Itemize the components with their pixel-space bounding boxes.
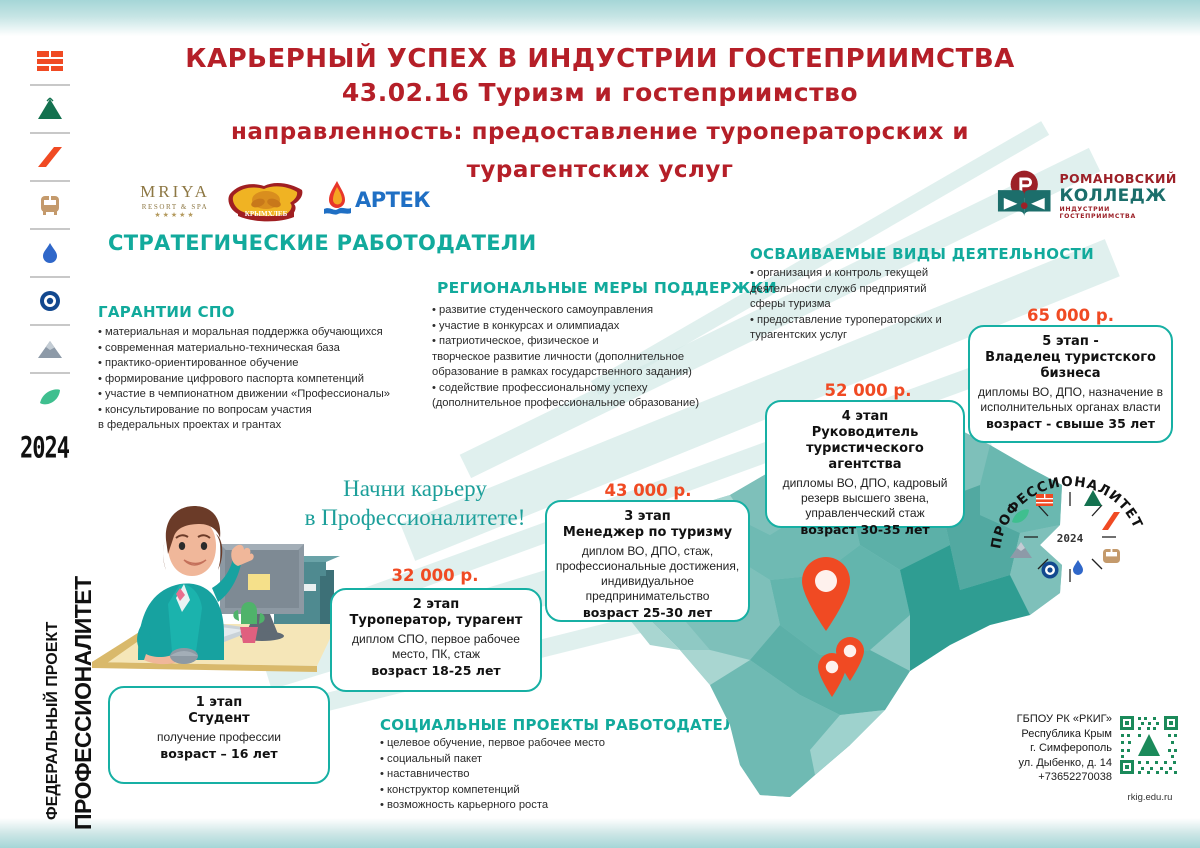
divider [30, 84, 70, 86]
badge-brick-icon [1036, 494, 1053, 506]
stage-salary-4: 52 000 р. [768, 381, 968, 400]
list-item: образование в рамках государственного за… [432, 365, 742, 381]
college-logo-line1: РОМАНОВСКИЙ [1059, 171, 1186, 186]
list-item: • патриотическое, физическое и [432, 334, 742, 350]
badge-year: 2024 [1057, 532, 1084, 545]
page-title-line1: КАРЬЕРНЫЙ УСПЕХ В ИНДУСТРИИ ГОСТЕПРИИМСТ… [180, 44, 1020, 76]
badge-mountain-icon [1010, 542, 1032, 558]
list-item: творческое развитие личности (дополнител… [432, 350, 742, 366]
stage-name: Владелец туристского бизнеса [978, 350, 1163, 382]
contact-street: ул. Дыбенко, д. 14 [1000, 756, 1112, 771]
brick-icon [22, 44, 78, 78]
qr-code[interactable] [1118, 714, 1180, 776]
list-item: • развитие студенческого самоуправления [432, 303, 742, 319]
heading-strategic-employers: СТРАТЕГИЧЕСКИЕ РАБОТОДАТЕЛИ [108, 231, 537, 255]
list-item: турагентских услуг [750, 328, 970, 344]
mriya-logo-sub: RESORT & SPA [140, 203, 210, 211]
partner-logos: MRIYA RESORT & SPA ★★★★★ КРЫМХЛЕБ АРТЕК [140, 172, 430, 228]
mriya-logo-stars: ★★★★★ [140, 211, 210, 219]
top-gradient-band [0, 0, 1200, 36]
droplet-icon [22, 236, 78, 270]
leaf-icon [22, 380, 78, 414]
mriya-logo-name: MRIYA [140, 182, 210, 202]
stage-number: 3 этап [555, 509, 740, 525]
heading-regional-support: РЕГИОНАЛЬНЫЕ МЕРЫ ПОДДЕРЖКИ [437, 279, 777, 297]
mountain-icon [22, 332, 78, 366]
stage-number: 2 этап [340, 597, 532, 613]
professionalitet-badge: ПРОФЕССИОНАЛИТЕТ 2024 [980, 452, 1160, 612]
target-icon [22, 284, 78, 318]
contact-phone: +73652270038 [1000, 770, 1112, 785]
list-item: (дополнительное профессиональное образов… [432, 396, 742, 412]
divider [30, 180, 70, 182]
list-item: • материальная и моральная поддержка обу… [98, 325, 428, 341]
sidebar-icon-strip [22, 44, 78, 414]
heading-activities: ОСВАИВАЕМЫЕ ВИДЫ ДЕЯТЕЛЬНОСТИ [750, 245, 1094, 263]
list-item: • участие в конкурсах и олимпиадах [432, 319, 742, 335]
list-item: в федеральных проектах и грантах [98, 418, 428, 434]
divider [30, 276, 70, 278]
artek-logo: АРТЕК [322, 179, 430, 221]
krymhleb-logo: КРЫМХЛЕБ [224, 176, 308, 224]
stage-description: диплом СПО, первое рабочее место, ПК, ст… [340, 632, 532, 662]
badge-bus-icon [1103, 549, 1120, 563]
list-item: деятельности служб предприятий [750, 282, 970, 298]
stage-card-4[interactable]: 4 этап Руководитель туристического агент… [765, 400, 965, 528]
list-item: • содействие профессиональному успеху [432, 381, 742, 397]
contact-republic: Республика Крым [1000, 727, 1112, 742]
stage-description: дипломы ВО, ДПО, кадровый резерв высшего… [775, 476, 955, 521]
contact-org: ГБПОУ РК «РКИГ» [1000, 712, 1112, 727]
slogan-line2: в Профессионалитете! [300, 503, 530, 532]
vertical-label-federal-project: ФЕДЕРАЛЬНЫЙ ПРОЕКТ [44, 622, 62, 820]
page-title-line2: 43.02.16 Туризм и гостеприимство [180, 78, 1020, 109]
list-item: • современная материально-техническая ба… [98, 341, 428, 357]
stage-card-5[interactable]: 5 этап - Владелец туристского бизнеса ди… [968, 325, 1173, 443]
divider [30, 132, 70, 134]
slash-icon [22, 140, 78, 174]
stage-age: возраст 25-30 лет [555, 605, 740, 620]
bus-icon [22, 188, 78, 222]
stage-number: 4 этап [775, 409, 955, 425]
divider [30, 324, 70, 326]
badge-droplet-icon [1073, 560, 1083, 575]
infographic-page: 2024 ФЕДЕРАЛЬНЫЙ ПРОЕКТ ПРОФЕССИОНАЛИТЕТ… [0, 0, 1200, 848]
page-title-line3: направленность: предоставление туроперат… [180, 118, 1020, 146]
stage-number: 5 этап - [978, 334, 1163, 350]
list-item: • консультирование по вопросам участия [98, 403, 428, 419]
stage-age: возраст 30-35 лет [775, 522, 955, 537]
stage-card-2[interactable]: 2 этап Туроператор, турагент диплом СПО,… [330, 588, 542, 692]
vertical-project-label: ФЕДЕРАЛЬНЫЙ ПРОЕКТ ПРОФЕССИОНАЛИТЕТ [14, 500, 84, 830]
list-regional-support: • развитие студенческого самоуправления … [432, 303, 742, 412]
stage-salary-2: 32 000 р. [330, 566, 540, 585]
list-activities: • организация и контроль текущей деятель… [750, 266, 970, 344]
badge-target-icon [1042, 562, 1059, 579]
heading-guarantees: ГАРАНТИИ СПО [98, 303, 235, 321]
artek-logo-label: АРТЕК [355, 188, 430, 212]
college-logo-line2: КОЛЛЕДЖ [1059, 186, 1186, 206]
stage-description: получение профессии [118, 730, 320, 745]
stage-card-3[interactable]: 3 этап Менеджер по туризму диплом ВО, ДП… [545, 500, 750, 622]
tent-icon [22, 92, 78, 126]
list-item: • участие в чемпионатном движении «Профе… [98, 387, 428, 403]
list-guarantees: • материальная и моральная поддержка обу… [98, 325, 428, 434]
stage-salary-5: 65 000 р. [968, 306, 1173, 325]
stage-description: диплом ВО, ДПО, стаж, профессиональные д… [555, 544, 740, 604]
stage-card-1[interactable]: 1 этап Студент получение профессии возра… [108, 686, 330, 784]
stage-age: возраст - свыше 35 лет [978, 416, 1163, 431]
contact-info: ГБПОУ РК «РКИГ» Республика Крым г. Симфе… [1000, 712, 1112, 785]
divider [30, 228, 70, 230]
stage-description: дипломы ВО, ДПО, назначение в исполнител… [978, 385, 1163, 415]
slogan-text: Начни карьеру в Профессионалитете! [300, 474, 530, 532]
stage-number: 1 этап [118, 695, 320, 711]
page-title-block: КАРЬЕРНЫЙ УСПЕХ В ИНДУСТРИИ ГОСТЕПРИИМСТ… [180, 44, 1020, 184]
stage-name: Студент [118, 711, 320, 727]
list-item: сферы туризма [750, 297, 970, 313]
badge-slash-icon [1102, 512, 1120, 530]
stage-name: Руководитель туристического агентства [775, 425, 955, 473]
college-logo-text: РОМАНОВСКИЙ КОЛЛЕДЖ ИНДУСТРИИ ГОСТЕПРИИМ… [1059, 171, 1186, 220]
website-url: rkig.edu.ru [1110, 792, 1190, 803]
list-item: • организация и контроль текущей [750, 266, 970, 282]
list-item: • практико-ориентированное обучение [98, 356, 428, 372]
svg-text:КРЫМХЛЕБ: КРЫМХЛЕБ [245, 210, 288, 218]
contact-city: г. Симферополь [1000, 741, 1112, 756]
stage-salary-3: 43 000 р. [548, 481, 748, 500]
mriya-logo: MRIYA RESORT & SPA ★★★★★ [140, 182, 210, 219]
bottom-gradient-band [0, 818, 1200, 848]
list-item: • предоставление туроператорских и [750, 313, 970, 329]
list-item: • формирование цифрового паспорта компет… [98, 372, 428, 388]
college-logo-line3: ИНДУСТРИИ ГОСТЕПРИИМСТВА [1059, 206, 1186, 220]
divider [30, 372, 70, 374]
stage-age: возраст – 16 лет [118, 746, 320, 761]
stage-name: Туроператор, турагент [340, 613, 532, 629]
stage-name: Менеджер по туризму [555, 525, 740, 541]
sidebar-year: 2024 [20, 432, 82, 466]
stage-age: возраст 18-25 лет [340, 663, 532, 678]
romanovsky-college-logo: РОМАНОВСКИЙ КОЛЛЕДЖ ИНДУСТРИИ ГОСТЕПРИИМ… [996, 166, 1186, 224]
slogan-line1: Начни карьеру [300, 474, 530, 503]
college-book-icon [996, 168, 1052, 222]
